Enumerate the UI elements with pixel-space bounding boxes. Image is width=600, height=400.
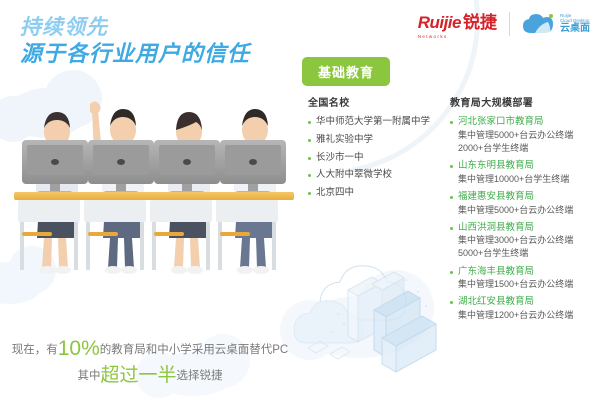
bureau-name: 福建惠安县教育局 bbox=[458, 191, 534, 204]
statistic-block: 现在，有10%的教育局和中小学采用云桌面替代PC 其中超过一半选择锐捷 bbox=[0, 336, 300, 388]
statistic-line-1: 现在，有10%的教育局和中小学采用云桌面替代PC bbox=[0, 336, 300, 361]
monitor-3 bbox=[154, 140, 220, 195]
bullet-dot-icon bbox=[308, 121, 311, 124]
ruijie-logo: Ruijie 锐捷 Networks bbox=[418, 8, 497, 39]
statistic-line1-suffix: 的教育局和中小学采用云桌面替代PC bbox=[100, 344, 288, 356]
bureau-entry: 广东海丰县教育局 bbox=[450, 266, 598, 279]
school-entry: 北京四中 bbox=[308, 187, 440, 200]
headline-line-2: 源于各行业用户的信任 bbox=[20, 41, 250, 67]
bullet-dot-icon bbox=[450, 196, 453, 199]
bullet-dot-icon bbox=[308, 157, 311, 160]
ruijie-logo-cn: 锐捷 bbox=[463, 8, 497, 33]
school-entry: 人大附中翠微学校 bbox=[308, 169, 440, 182]
bureau-entry: 山西洪洞县教育局 bbox=[450, 222, 598, 235]
bureau-detail: 2000+台学生终端 bbox=[458, 142, 598, 155]
bureau-name: 湖北红安县教育局 bbox=[458, 296, 534, 309]
statistic-line2-prefix: 其中 bbox=[77, 370, 100, 382]
cloud-desktop-logo-text: Ruijie Cloud Desktop 云桌面 bbox=[560, 13, 590, 35]
monitor-2 bbox=[88, 140, 154, 195]
bureau-detail: 集中管理5000+台云办公终端 bbox=[458, 129, 598, 142]
list-item[interactable]: 人大附中翠微学校 bbox=[308, 169, 440, 182]
school-entry: 长沙市一中 bbox=[308, 152, 440, 165]
monitor-4 bbox=[220, 140, 286, 195]
bureau-detail: 集中管理10000+台学生终端 bbox=[458, 173, 598, 186]
bureau-name: 山东东明县教育局 bbox=[458, 160, 534, 173]
school-name: 人大附中翠微学校 bbox=[316, 169, 392, 182]
ruijie-logo-main: Ruijie 锐捷 bbox=[418, 8, 497, 33]
bureau-detail: 集中管理1200+台云办公终端 bbox=[458, 309, 598, 322]
list-item[interactable]: 山西洪洞县教育局 集中管理3000+台云办公终端 5000+台学生终端 bbox=[450, 222, 598, 261]
section-badge: 基础教育 bbox=[302, 57, 390, 86]
school-name: 雅礼实验中学 bbox=[316, 134, 373, 147]
headline: 持续领先 源于各行业用户的信任 bbox=[20, 16, 250, 67]
logo-group: Ruijie 锐捷 Networks Ruijie Cloud Desktop … bbox=[418, 8, 590, 39]
bureau-name: 河北张家口市教育局 bbox=[458, 116, 544, 129]
list-item[interactable]: 长沙市一中 bbox=[308, 152, 440, 165]
cloud-desktop-logo: Ruijie Cloud Desktop 云桌面 bbox=[522, 13, 590, 35]
bullet-dot-icon bbox=[308, 174, 311, 177]
column-national-schools: 全国名校 华中师范大学第一附属中学 雅礼实验中学 长沙市一中 bbox=[308, 94, 440, 205]
bureau-entry: 河北张家口市教育局 bbox=[450, 116, 598, 129]
students-illustration bbox=[6, 92, 298, 274]
school-entry: 华中师范大学第一附属中学 bbox=[308, 116, 440, 129]
bullet-dot-icon bbox=[450, 165, 453, 168]
slide-root: 持续领先 源于各行业用户的信任 Ruijie 锐捷 Networks Ruiji… bbox=[0, 0, 600, 400]
list-item[interactable]: 华中师范大学第一附属中学 bbox=[308, 116, 440, 129]
cloud-logo-cn: 云桌面 bbox=[560, 23, 590, 35]
statistic-line1-prefix: 现在，有 bbox=[12, 344, 58, 356]
bureau-name: 广东海丰县教育局 bbox=[458, 266, 534, 279]
statistic-line2-suffix: 选择锐捷 bbox=[177, 370, 223, 382]
column-right-title: 教育局大规模部署 bbox=[450, 94, 598, 109]
bureau-detail: 集中管理1500+台云办公终端 bbox=[458, 278, 598, 291]
list-item[interactable]: 河北张家口市教育局 集中管理5000+台云办公终端 2000+台学生终端 bbox=[450, 116, 598, 155]
bureau-name: 山西洪洞县教育局 bbox=[458, 222, 534, 235]
bullet-dot-icon bbox=[450, 227, 453, 230]
bureau-detail: 集中管理5000+台云办公终端 bbox=[458, 204, 598, 217]
column-bureau-deployments: 教育局大规模部署 河北张家口市教育局 集中管理5000+台云办公终端 2000+… bbox=[450, 94, 598, 327]
bureau-entry: 山东东明县教育局 bbox=[450, 160, 598, 173]
statistic-line-2: 其中超过一半选择锐捷 bbox=[0, 365, 300, 388]
school-name: 长沙市一中 bbox=[316, 152, 364, 165]
ruijie-logo-en: Ruijie bbox=[418, 13, 461, 33]
statistic-percentage: 10% bbox=[58, 337, 100, 360]
school-entry: 雅礼实验中学 bbox=[308, 134, 440, 147]
cloud-icon bbox=[522, 13, 556, 35]
isometric-cloud-server-artwork bbox=[286, 244, 456, 394]
bullet-dot-icon bbox=[308, 139, 311, 142]
bureau-entry: 福建惠安县教育局 bbox=[450, 191, 598, 204]
monitor-1 bbox=[22, 140, 88, 195]
column-left-title: 全国名校 bbox=[308, 94, 440, 109]
statistic-highlight: 超过一半 bbox=[100, 365, 176, 386]
school-name: 华中师范大学第一附属中学 bbox=[316, 116, 430, 129]
cloud-shape-3 bbox=[300, 296, 420, 358]
list-item[interactable]: 山东东明县教育局 集中管理10000+台学生终端 bbox=[450, 160, 598, 186]
list-item[interactable]: 北京四中 bbox=[308, 187, 440, 200]
bullet-dot-icon bbox=[308, 192, 311, 195]
list-item[interactable]: 雅礼实验中学 bbox=[308, 134, 440, 147]
ruijie-logo-subtitle: Networks bbox=[418, 34, 448, 39]
bullet-dot-icon bbox=[450, 271, 453, 274]
bullet-dot-icon bbox=[450, 121, 453, 124]
list-item[interactable]: 广东海丰县教育局 集中管理1500+台云办公终端 bbox=[450, 266, 598, 292]
list-item[interactable]: 湖北红安县教育局 集中管理1200+台云办公终端 bbox=[450, 296, 598, 322]
headline-line-1: 持续领先 bbox=[20, 16, 250, 41]
logo-separator bbox=[509, 12, 510, 36]
school-list: 华中师范大学第一附属中学 雅礼实验中学 长沙市一中 人大附中翠微学校 bbox=[308, 116, 440, 200]
bullet-dot-icon bbox=[450, 301, 453, 304]
bureau-detail: 5000+台学生终端 bbox=[458, 247, 598, 260]
school-name: 北京四中 bbox=[316, 187, 354, 200]
list-item[interactable]: 福建惠安县教育局 集中管理5000+台云办公终端 bbox=[450, 191, 598, 217]
bureau-list: 河北张家口市教育局 集中管理5000+台云办公终端 2000+台学生终端 山东东… bbox=[450, 116, 598, 322]
bureau-detail: 集中管理3000+台云办公终端 bbox=[458, 234, 598, 247]
bureau-entry: 湖北红安县教育局 bbox=[450, 296, 598, 309]
